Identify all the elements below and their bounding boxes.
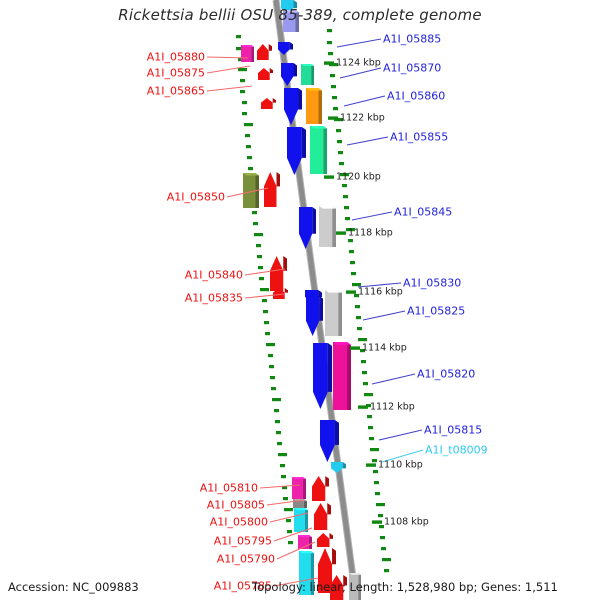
genome-graphical-view[interactable]: Rickettsia bellii OSU 85-389, complete g… [0,0,600,600]
ruler-tick-label-3: 1118 kbp [348,228,393,239]
ruler-tick-label-7: 1110 kbp [378,460,423,471]
feat-blue-arrow-3[interactable] [284,88,302,125]
gene-label-a1i_05840[interactable]: A1I_05840 [185,269,243,282]
gene-label-a1i_05815[interactable]: A1I_05815 [424,424,482,437]
feat-green-box-2[interactable] [310,126,327,174]
gene-label-a1i_05800[interactable]: A1I_05800 [210,516,268,529]
gene-label-a1i_05880[interactable]: A1I_05880 [147,51,205,64]
gene-label-a1i_05875[interactable]: A1I_05875 [147,67,205,80]
feat-cyan-arrow-small[interactable] [331,462,346,473]
gene-label-a1i_05885[interactable]: A1I_05885 [383,33,441,46]
feat-blue-box-title[interactable] [283,10,299,32]
ruler-tick-label-4: 1116 kbp [358,287,403,298]
feat-blue-arrow-5[interactable] [299,207,316,249]
ruler-tick-label-5: 1114 kbp [362,343,407,354]
gene-label-a1i_05860[interactable]: A1I_05860 [387,90,445,103]
accession-text: Accession: NC_009883 [8,580,139,594]
feat-green-box-1[interactable] [301,64,314,85]
gene-label-a1i_05825[interactable]: A1I_05825 [407,305,465,318]
feat-orange-box[interactable] [306,88,322,124]
gene-label-a1i_05865[interactable]: A1I_05865 [147,85,205,98]
gene-label-a1i_05870[interactable]: A1I_05870 [383,62,441,75]
feat-red-arrow-3[interactable] [261,98,276,109]
gene-label-a1i_05790[interactable]: A1I_05790 [217,553,275,566]
gene-label-a1i_05835[interactable]: A1I_05835 [185,292,243,305]
feat-red-arrow-8[interactable] [314,503,331,530]
feat-magenta-box-2[interactable] [333,342,351,410]
gene-label-a1i_05805[interactable]: A1I_05805 [207,499,265,512]
feat-red-arrow-4[interactable] [264,172,280,207]
tick-marks-left [236,35,293,544]
gene-label-a1i_05850[interactable]: A1I_05850 [167,191,225,204]
feat-cyan-box-1[interactable] [294,508,308,532]
feat-red-arrow-9[interactable] [317,533,333,547]
gene-label-a1i_05795[interactable]: A1I_05795 [214,535,272,548]
feat-gray-box-2[interactable] [325,290,342,336]
ruler-tick-label-0: 1124 kbp [336,58,381,69]
gene-label-a1i_05820[interactable]: A1I_05820 [417,368,475,381]
ruler-tick-label-2: 1120 kbp [336,172,381,183]
gene-label-a1i_05855[interactable]: A1I_05855 [390,131,448,144]
feat-blue-arrow-4[interactable] [287,127,306,175]
trna-label-a1i_t08009[interactable]: A1I_t08009 [425,444,488,457]
genome-canvas[interactable] [0,0,600,600]
topology-text: Topology: linear; Length: 1,528,980 bp; … [252,580,558,594]
feat-blue-arrow-2[interactable] [281,63,297,86]
ruler-tick-label-1: 1122 kbp [340,113,385,124]
feat-magenta-box-top[interactable] [241,45,254,62]
feat-gray-box-1[interactable] [319,206,336,247]
feat-red-arrow-1[interactable] [257,44,272,60]
gene-label-a1i_05845[interactable]: A1I_05845 [394,206,452,219]
gene-label-a1i_05830[interactable]: A1I_05830 [403,277,461,290]
feat-red-arrow-2[interactable] [258,68,273,80]
feat-red-arrow-7[interactable] [312,476,329,501]
ruler-tick-label-6: 1112 kbp [370,402,415,413]
feat-red-arrow-5[interactable] [270,256,287,291]
gene-label-a1i_05810[interactable]: A1I_05810 [200,482,258,495]
feat-magenta-box-3[interactable] [292,477,306,499]
ruler-tick-label-8: 1108 kbp [384,517,429,528]
